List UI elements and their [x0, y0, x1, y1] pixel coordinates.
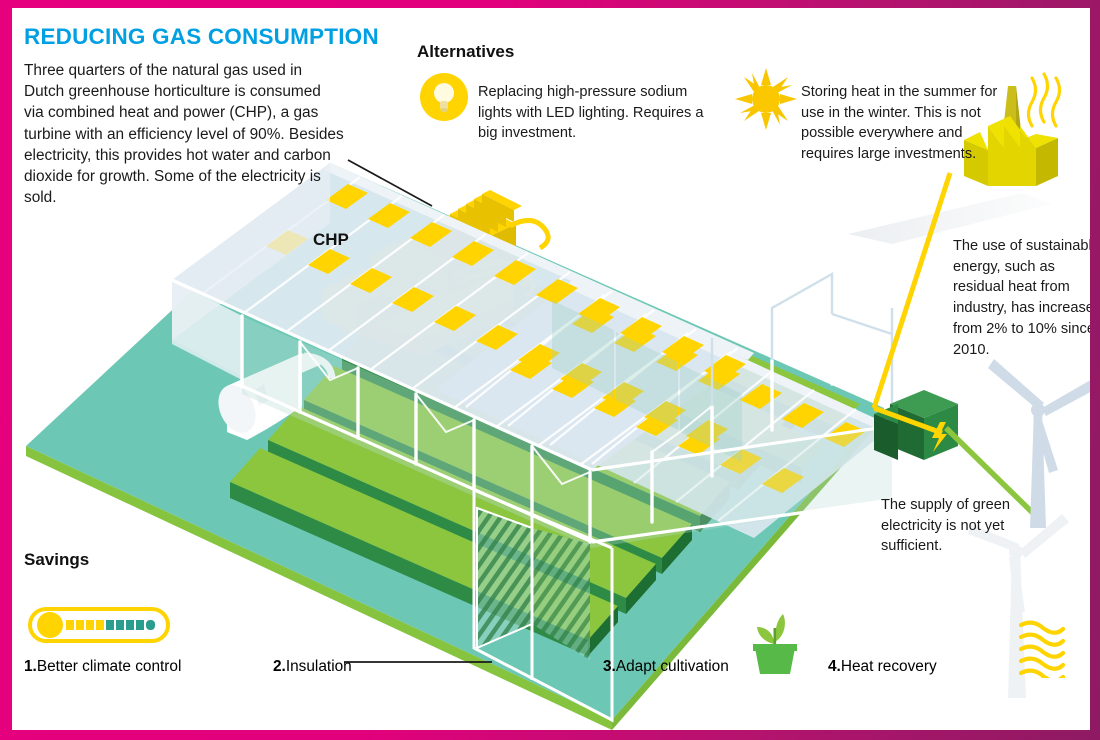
savings-item-1-number: 1.: [24, 658, 37, 675]
seedling-icon: [747, 608, 803, 674]
savings-item-3: 3.Adapt cultivation: [603, 658, 729, 676]
alternative-led-text: Replacing high-pressure sodium lights wi…: [478, 82, 723, 144]
thermometer-icon: [24, 603, 174, 647]
page-title: REDUCING GAS CONSUMPTION: [24, 24, 379, 50]
chp-label: CHP: [313, 230, 349, 250]
sun-icon: [735, 68, 797, 130]
heat-waves-icon: [1015, 616, 1067, 678]
infographic-frame: REDUCING GAS CONSUMPTION Three quarters …: [0, 0, 1100, 740]
savings-item-4: 4.Heat recovery: [828, 658, 937, 676]
savings-heading: Savings: [24, 550, 89, 570]
savings-item-2-label: Insulation: [286, 658, 352, 675]
insulation-leader-line: [342, 648, 502, 674]
alternatives-heading: Alternatives: [417, 42, 514, 62]
lightbulb-icon: [417, 70, 471, 124]
factory-heat-waves: [1029, 74, 1060, 126]
savings-item-2: 2.Insulation: [273, 658, 352, 676]
savings-item-3-number: 3.: [603, 658, 616, 675]
yellow-heat-line: [874, 173, 950, 408]
infographic-canvas: REDUCING GAS CONSUMPTION Three quarters …: [12, 8, 1090, 730]
alternative-heat-storage-text: Storing heat in the summer for use in th…: [801, 82, 1006, 165]
savings-item-2-number: 2.: [273, 658, 286, 675]
savings-item-3-label: Adapt cultivation: [616, 658, 729, 675]
savings-item-1-label: Better climate control: [37, 658, 182, 675]
intro-paragraph: Three quarters of the natural gas used i…: [24, 60, 344, 208]
savings-item-4-number: 4.: [828, 658, 841, 675]
savings-item-1: 1.Better climate control: [24, 658, 181, 676]
green-electricity-note: The supply of green electricity is not y…: [881, 495, 1031, 557]
sustainable-energy-note: The use of sustainable energy, such as r…: [953, 236, 1090, 360]
savings-item-4-label: Heat recovery: [841, 658, 937, 675]
